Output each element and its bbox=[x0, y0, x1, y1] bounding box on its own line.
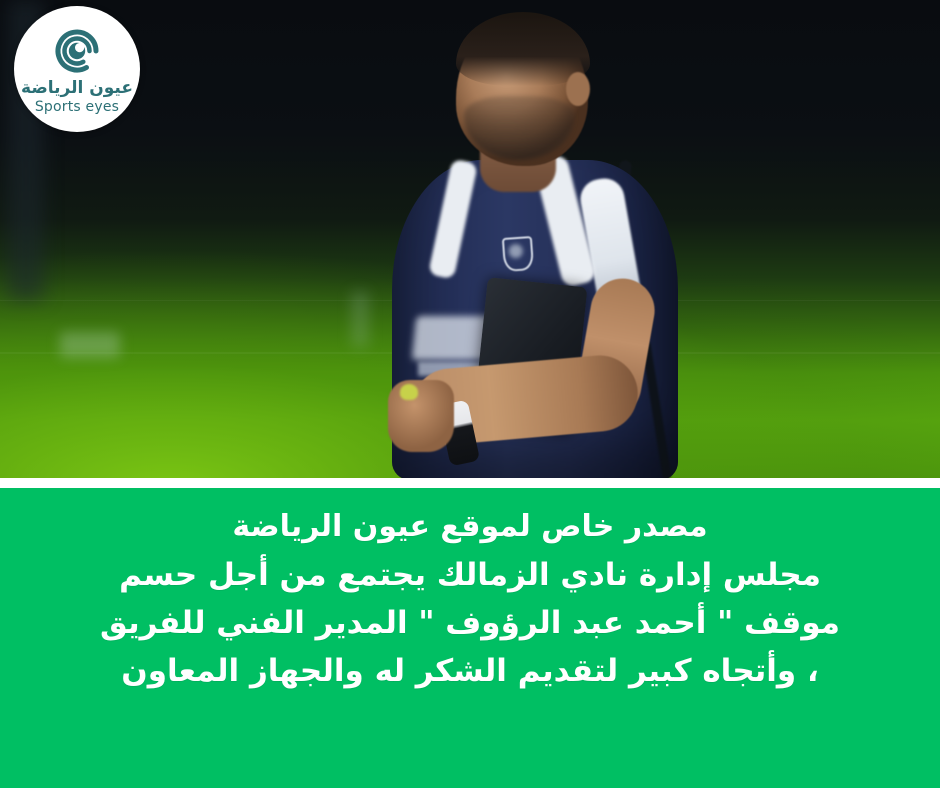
brand-logo-badge: عيون الرياضة Sports eyes bbox=[14, 6, 140, 132]
white-divider bbox=[0, 478, 940, 488]
caption-line-1: مجلس إدارة نادي الزمالك يجتمع من أجل حسم bbox=[20, 551, 920, 599]
eye-swirl-icon bbox=[51, 25, 103, 77]
ear bbox=[566, 72, 590, 106]
logo-english-name: Sports eyes bbox=[35, 100, 119, 115]
coach-figure bbox=[352, 10, 712, 478]
caption-line-3: ، وأتجاه كبير لتقديم الشكر له والجهاز ال… bbox=[20, 647, 920, 695]
hand bbox=[388, 380, 454, 452]
caption-panel: مصدر خاص لموقع عيون الرياضة مجلس إدارة ن… bbox=[0, 488, 940, 788]
news-card: عيون الرياضة Sports eyes مصدر خاص لموقع … bbox=[0, 0, 940, 788]
goal-blur bbox=[60, 332, 120, 358]
photo-area: عيون الرياضة Sports eyes bbox=[0, 0, 940, 478]
logo-arabic-name: عيون الرياضة bbox=[21, 79, 133, 98]
caption-line-2: موقف " أحمد عبد الرؤوف " المدير الفني لل… bbox=[20, 599, 920, 647]
club-crest-icon bbox=[502, 236, 534, 272]
whistle bbox=[400, 384, 418, 400]
caption-line-source: مصدر خاص لموقع عيون الرياضة bbox=[20, 504, 920, 551]
